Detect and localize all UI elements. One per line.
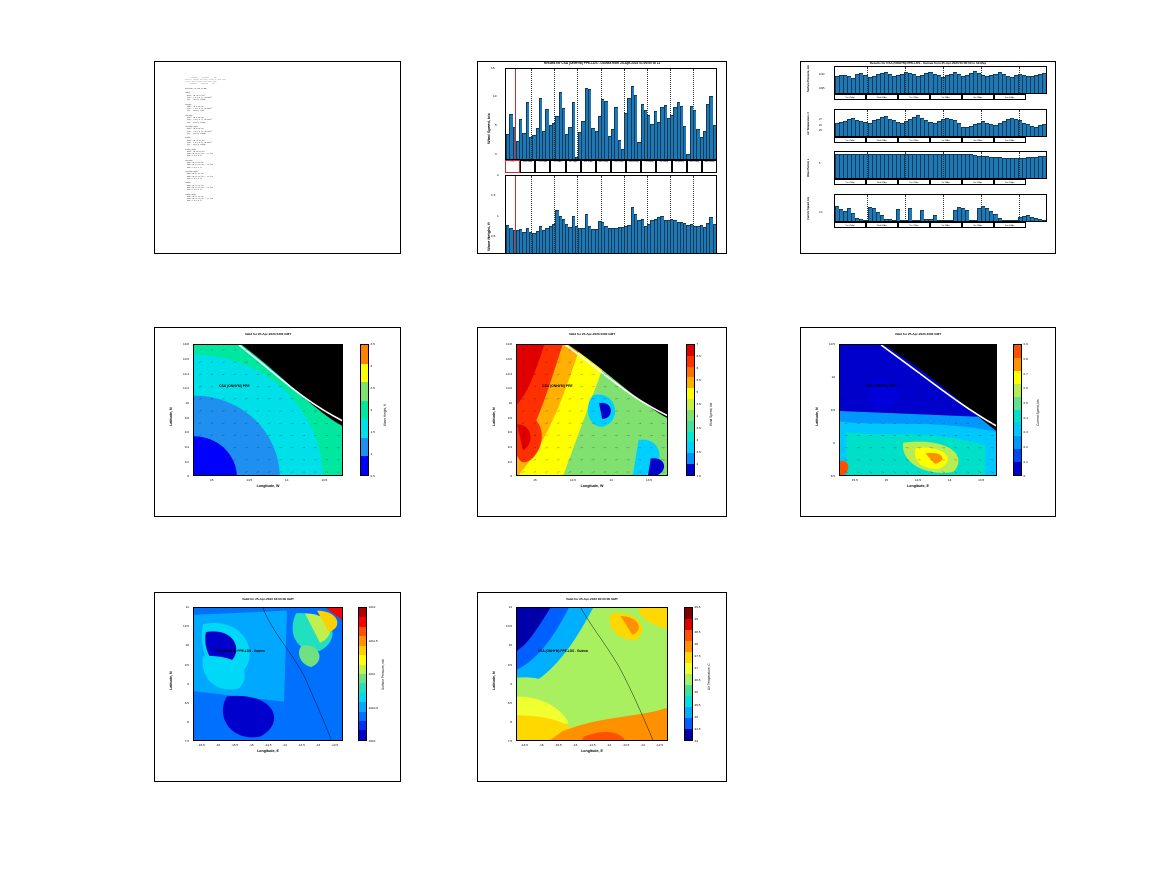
y-tick: 10.2	[506, 386, 512, 390]
colorbar-segment	[687, 410, 694, 421]
day-label: Thu 27Apr	[898, 94, 930, 100]
y-tick: 5	[819, 162, 820, 165]
y-tick: 10.8	[506, 342, 512, 346]
day-label: Tue 25Apr	[834, 222, 866, 228]
x-tick: 14.5	[567, 478, 579, 482]
colorbar-segment	[361, 456, 368, 475]
y-tick: 9.8	[508, 416, 512, 420]
day-label: Sat 29Apr	[962, 137, 994, 143]
bar	[1042, 156, 1046, 178]
y-tick: 10.5	[829, 342, 835, 346]
y-tick: 8	[187, 720, 189, 724]
colorbar-tick: 24	[695, 739, 698, 743]
map-field	[194, 608, 343, 741]
surface-pressure-subplot	[834, 66, 1047, 94]
wave-height-bars	[506, 176, 716, 254]
y-tick: 10.5	[183, 624, 189, 628]
y-tick: 10	[832, 375, 835, 379]
colorbar-segment	[359, 730, 366, 739]
air-temperature-map-plot-area	[516, 607, 668, 741]
day-label: Wed 26Apr	[866, 179, 898, 185]
x-tick: -16.5	[195, 743, 207, 747]
wind-speed-map-title: Valid for 25-Apr-2023 0300 GMT	[516, 332, 668, 336]
colorbar-tick: 0.5	[1024, 401, 1028, 405]
day-label: Tue 25Apr	[834, 179, 866, 185]
colorbar-segment	[361, 345, 368, 364]
colorbar-segment	[359, 721, 366, 730]
wind-wave-chart-title: Results for CSA (ONHYM) PPE-LDS - Guinea…	[478, 61, 726, 65]
colorbar-segment	[359, 627, 366, 636]
colorbar-tick: 7	[697, 342, 699, 346]
colorbar-tick: 6	[697, 366, 699, 370]
colorbar-tick: 0.8	[1024, 357, 1028, 361]
x-tick: -15.5	[229, 743, 241, 747]
colorbar-tick: 29	[695, 617, 698, 621]
y-tick: 9	[187, 682, 189, 686]
day-label: Thu 27Apr	[898, 137, 930, 143]
colorbar-tick: 1.5	[697, 474, 701, 478]
colorbar-tick: 3	[697, 438, 699, 442]
colorbar-segment	[685, 729, 692, 740]
air-temperature-map-colorbar	[684, 607, 693, 741]
wind-speed-subplot	[505, 68, 717, 160]
colorbar-tick: 1.5	[371, 430, 375, 434]
air-temperature-ylabel: Air Temperature, C	[807, 111, 810, 134]
colorbar-segment	[361, 382, 368, 401]
day-label: Sat 06May	[672, 160, 687, 173]
y-tick: 10	[186, 401, 189, 405]
bar	[713, 224, 716, 254]
x-tick: 15	[880, 478, 892, 482]
colorbar-tick: 0.2	[1024, 445, 1028, 449]
day-label: Wed 26Apr	[866, 94, 898, 100]
y-tick: 9	[833, 441, 835, 445]
colorbar-tick: 28.5	[695, 630, 701, 634]
colorbar-tick: 3	[371, 364, 373, 368]
now-marker-label: Now	[505, 160, 520, 173]
surface-pressure-map-colorbar-label: Surface Pressure, mb	[381, 659, 385, 690]
colorbar-segment	[685, 652, 692, 663]
wave-height-map-colorbar-label: Wave Height, ft	[383, 404, 387, 426]
colorbar-tick: 0.6	[1024, 386, 1028, 390]
y-tick: 9.5	[185, 663, 189, 667]
colorbar-segment	[359, 608, 366, 617]
wind-speed-ylabel: Wind Speed, kts	[486, 113, 491, 144]
day-label: Mon 08May	[702, 160, 717, 173]
y-tick: 10.4	[183, 372, 189, 376]
y-tick: 10.4	[506, 372, 512, 376]
wave-height-map-colorbar	[360, 344, 369, 476]
colorbar-segment	[359, 674, 366, 683]
met-ocean-timeseries-panel: Results for CSA (ONHYM) PPE-LDS - Guinea…	[800, 61, 1056, 254]
day-label: Wed 26Apr	[866, 222, 898, 228]
wave-period-subplot	[834, 151, 1047, 179]
colorbar-segment	[685, 685, 692, 696]
y-tick: 9.5	[831, 408, 835, 412]
day-label: Sat 29Apr	[962, 222, 994, 228]
colorbar-tick: 0	[1024, 474, 1026, 478]
day-label: Sat 29Apr	[962, 179, 994, 185]
colorbar-tick: 1011.5	[369, 639, 378, 643]
day-label: Wed 26Apr	[520, 160, 535, 173]
colorbar-segment	[1014, 371, 1021, 384]
colorbar-segment	[687, 367, 694, 378]
x-tick: 15	[206, 478, 218, 482]
current-speed-map-title: Valid for 25-Apr-2023 2300 GMT	[839, 332, 997, 336]
colorbar-segment	[1014, 397, 1021, 410]
forecast-text-body: ######## ######## ### #### ## ###### ###…	[185, 78, 392, 248]
y-tick: 9	[510, 682, 512, 686]
colorbar-tick: 4.5	[697, 402, 701, 406]
day-label: Thu 27Apr	[898, 179, 930, 185]
met-ocean-chart-title: Results for CSA (ONHYM) PPE-LDS - Guinea…	[801, 61, 1055, 65]
x-tick: -15.5	[552, 743, 564, 747]
y-tick: 11	[509, 605, 512, 609]
day-label: Fri 28Apr	[930, 179, 962, 185]
met-ocean-subplot-stack: Surface Pressure, mb10051010Tue 25AprWed…	[801, 66, 1055, 236]
wave-height-map-title: Valid for 25-Apr-2023 0300 GMT	[193, 332, 343, 336]
y-tick: 0.2	[819, 211, 822, 214]
colorbar-segment	[361, 438, 368, 457]
colorbar-tick: 1	[371, 452, 373, 456]
text-forecast-panel: ######## ######## ### #### ## ###### ###…	[154, 61, 401, 254]
current-speed-map-colorbar-label: Current Speed, kts	[1036, 399, 1040, 426]
colorbar-segment	[685, 619, 692, 630]
colorbar-segment	[359, 636, 366, 645]
wind-speed-map-plot-area	[516, 344, 668, 476]
x-tick: -16	[535, 743, 547, 747]
colorbar-segment	[685, 641, 692, 652]
y-tick: 8.5	[831, 474, 835, 478]
wave-height-map-panel: Valid for 25-Apr-2023 0300 GMT10.810.610…	[154, 327, 401, 517]
colorbar-tick: 25.5	[695, 703, 701, 707]
y-tick: 10.6	[183, 357, 189, 361]
bar	[1042, 73, 1046, 93]
colorbar-segment	[687, 388, 694, 399]
colorbar-tick: 4	[697, 414, 699, 418]
current-speed-map-colorbar	[1013, 344, 1022, 476]
colorbar-tick: 1012	[369, 605, 376, 609]
colorbar-segment	[359, 665, 366, 674]
y-tick: 9.4	[508, 445, 512, 449]
wind-speed-map-ylabel: Latitude, N	[492, 407, 496, 426]
colorbar-segment	[685, 696, 692, 707]
y-tick: 11	[186, 605, 189, 609]
wave-height-map-plot-area	[193, 344, 343, 476]
wind-speed-bars	[506, 69, 716, 159]
colorbar-segment	[359, 646, 366, 655]
current-speed-map-ylabel: Latitude, N	[815, 407, 819, 426]
day-label: Thu 27Apr	[898, 222, 930, 228]
y-tick: 9.6	[185, 430, 189, 434]
colorbar-segment	[687, 464, 694, 475]
air-temperature-map-site-label: CSA (ONHYM) PPE-LDS - Guinea	[538, 649, 588, 653]
wave-height-map-site-label: CSA (ONHYM) PPE	[219, 384, 250, 388]
wave-period-ylabel: Wave Period, s	[807, 159, 810, 177]
colorbar-segment	[687, 356, 694, 367]
current-speed-map-xlabel: Longitude, E	[839, 484, 997, 488]
x-tick: -16.5	[518, 743, 530, 747]
colorbar-segment	[1014, 384, 1021, 397]
colorbar-tick: 24.5	[695, 727, 701, 731]
colorbar-tick: 6.5	[697, 354, 701, 358]
colorbar-segment	[687, 345, 694, 356]
surface-pressure-ylabel: Surface Pressure, mb	[807, 65, 810, 92]
colorbar-tick: 0.1	[1024, 460, 1028, 464]
y-tick: 9.5	[508, 663, 512, 667]
colorbar-segment	[1014, 345, 1021, 358]
wind-speed-map-xlabel: Longitude, W	[516, 484, 668, 488]
x-tick: -13	[312, 743, 324, 747]
day-label: Fri 28Apr	[930, 94, 962, 100]
colorbar-tick: 1010	[369, 739, 376, 743]
wind-speed-map-site-label: CSA (ONHYM) PPE	[542, 384, 573, 388]
colorbar-tick: 0.9	[1024, 342, 1028, 346]
y-tick: 26	[819, 124, 822, 127]
y-tick: 10	[186, 643, 189, 647]
y-tick: 8.5	[185, 701, 189, 705]
colorbar-segment	[687, 432, 694, 443]
current-speed-subplot	[834, 194, 1047, 222]
colorbar-segment	[687, 377, 694, 388]
bar	[1042, 220, 1046, 221]
x-tick: -12.5	[329, 743, 341, 747]
day-label: Fri 28Apr	[930, 222, 962, 228]
surface-pressure-map-colorbar	[358, 607, 367, 741]
y-tick: 27	[819, 118, 822, 121]
colorbar-segment	[1014, 436, 1021, 449]
x-tick: -14	[279, 743, 291, 747]
colorbar-tick: 5	[697, 390, 699, 394]
colorbar-segment	[1014, 410, 1021, 423]
y-tick: 7.5	[185, 739, 189, 743]
colorbar-tick: 2.5	[371, 386, 375, 390]
current-speed-map-plot-area	[839, 344, 997, 476]
colorbar-tick: 0.3	[1024, 430, 1028, 434]
surface-pressure-map-site-label: CSA (ONHYM) PPE-LDS - Guinea	[215, 649, 265, 653]
day-label: Tue 25Apr	[834, 94, 866, 100]
surface-pressure-map-panel: Valid for 25-Apr-2023 03:00:00 GMT1110.5…	[154, 592, 401, 782]
bar	[713, 125, 716, 159]
colorbar-tick: 1010.5	[369, 706, 378, 710]
colorbar-segment	[687, 442, 694, 453]
colorbar-segment	[685, 663, 692, 674]
y-tick: 1005	[819, 87, 825, 90]
x-tick: -16	[212, 743, 224, 747]
colorbar-tick: 2.5	[697, 450, 701, 454]
colorbar-segment	[687, 421, 694, 432]
colorbar-segment	[685, 674, 692, 685]
colorbar-tick: 26.5	[695, 678, 701, 682]
day-label: Sat 29Apr	[566, 160, 581, 173]
bar	[1042, 124, 1046, 136]
air-temperature-map-xlabel: Longitude, E	[516, 749, 668, 753]
y-tick: 1010	[819, 73, 825, 76]
x-tick: -15	[569, 743, 581, 747]
map-field	[517, 345, 668, 476]
x-tick: -14.5	[262, 743, 274, 747]
day-label: Sun 30Apr	[994, 137, 1026, 143]
colorbar-segment	[359, 712, 366, 721]
wind-wave-timeseries-panel: Results for CSA (ONHYM) PPE-LDS - Guinea…	[477, 61, 727, 254]
day-label-row: Tue 25AprWed 26AprThu 27AprFri 28AprSat …	[834, 222, 1047, 228]
day-label: Mon 01May	[596, 160, 611, 173]
colorbar-segment	[685, 707, 692, 718]
y-tick: 10.6	[506, 357, 512, 361]
x-tick: 14.5	[912, 478, 924, 482]
now-marker-line	[515, 69, 516, 159]
wave-height-map-xlabel: Longitude, W	[193, 484, 343, 488]
air-temperature-map-title: Valid for 25-Apr-2023 00:00:00 GMT	[516, 597, 668, 601]
day-label: Sun 30Apr	[994, 94, 1026, 100]
day-label: Sun 30Apr	[581, 160, 596, 173]
colorbar-segment	[685, 608, 692, 619]
map-field	[840, 345, 997, 476]
colorbar-tick: 0.4	[1024, 416, 1028, 420]
colorbar-segment	[1014, 358, 1021, 371]
y-tick: 7.5	[508, 739, 512, 743]
y-tick: 9.2	[508, 460, 512, 464]
day-label: Sun 30Apr	[994, 179, 1026, 185]
y-tick: 10	[509, 401, 512, 405]
y-tick: 8	[510, 720, 512, 724]
colorbar-segment	[361, 364, 368, 383]
day-label: Tue 25Apr	[834, 137, 866, 143]
colorbar-tick: 29.5	[695, 605, 701, 609]
colorbar-tick: 5.5	[697, 378, 701, 382]
colorbar-segment	[359, 693, 366, 702]
colorbar-tick: 0.7	[1024, 372, 1028, 376]
x-tick: 14.5	[243, 478, 255, 482]
colorbar-segment	[685, 630, 692, 641]
wave-height-subplot	[505, 175, 717, 254]
y-tick: 8.5	[508, 701, 512, 705]
y-tick: 9	[187, 474, 189, 478]
day-label-row: Tue 25AprWed 26AprThu 27AprFri 28AprSat …	[834, 137, 1047, 143]
day-label: Fri 28Apr	[930, 137, 962, 143]
surface-pressure-map-title: Valid for 25-Apr-2023 03:00:00 GMT	[193, 597, 343, 601]
colorbar-tick: 3.5	[371, 342, 375, 346]
colorbar-segment	[359, 617, 366, 626]
current-speed-map-site-label: CSA (ONHYM) PPE	[865, 384, 896, 388]
x-tick: 14	[605, 478, 617, 482]
colorbar-segment	[687, 453, 694, 464]
colorbar-segment	[1014, 462, 1021, 475]
surface-pressure-map-xlabel: Longitude, E	[193, 749, 343, 753]
day-label: Tue 02May	[611, 160, 626, 173]
y-tick: 10	[509, 643, 512, 647]
day-label: Fri 28Apr	[550, 160, 565, 173]
surface-pressure-map-ylabel: Latitude, N	[169, 671, 173, 690]
y-tick: 9.2	[185, 460, 189, 464]
y-tick: 10.8	[183, 342, 189, 346]
wave-height-map-ylabel: Latitude, N	[169, 407, 173, 426]
day-label: Wed 26Apr	[866, 137, 898, 143]
colorbar-segment	[1014, 449, 1021, 462]
x-tick: 15	[529, 478, 541, 482]
colorbar-segment	[361, 401, 368, 420]
x-tick: -12.5	[654, 743, 666, 747]
x-tick: -13.5	[295, 743, 307, 747]
colorbar-tick: 3.5	[697, 426, 701, 430]
colorbar-segment	[1014, 423, 1021, 436]
colorbar-tick: 1011	[369, 672, 376, 676]
x-tick: 13.5	[643, 478, 655, 482]
x-tick: -15	[245, 743, 257, 747]
colorbar-segment	[361, 419, 368, 438]
wind-speed-map-panel: Valid for 25-Apr-2023 0300 GMT10.810.610…	[477, 327, 727, 517]
colorbar-segment	[359, 683, 366, 692]
day-label: Sun 07May	[687, 160, 702, 173]
day-label-row: Tue 25AprWed 26AprThu 27AprFri 28AprSat …	[505, 160, 717, 173]
y-tick: 10.2	[183, 386, 189, 390]
colorbar-segment	[359, 702, 366, 711]
colorbar-segment	[687, 399, 694, 410]
x-tick: 15.5	[849, 478, 861, 482]
colorbar-tick: 26	[695, 690, 698, 694]
x-tick: -13.5	[620, 743, 632, 747]
y-tick: 9	[510, 474, 512, 478]
y-tick: 10.5	[506, 624, 512, 628]
day-label: Thu 27Apr	[535, 160, 550, 173]
day-label: Wed 03May	[626, 160, 641, 173]
x-tick: -14.5	[586, 743, 598, 747]
current-speed-map-panel: Valid for 25-Apr-2023 2300 GMT10.5109.59…	[800, 327, 1056, 517]
colorbar-segment	[359, 655, 366, 664]
current-speed-ylabel: Current Speed, kts	[807, 196, 810, 219]
day-label-row: Tue 25AprWed 26AprThu 27AprFri 28AprSat …	[834, 179, 1047, 185]
day-label: Sun 30Apr	[994, 222, 1026, 228]
colorbar-tick: 28	[695, 642, 698, 646]
wind-speed-map-colorbar	[686, 344, 695, 476]
x-tick: 14	[281, 478, 293, 482]
colorbar-tick: 2	[697, 462, 699, 466]
y-tick: 9.8	[185, 416, 189, 420]
air-temperature-map-panel: Valid for 25-Apr-2023 00:00:00 GMT1110.5…	[477, 592, 727, 782]
x-tick: 13.5	[318, 478, 330, 482]
map-field	[194, 345, 343, 476]
x-tick: -13	[637, 743, 649, 747]
colorbar-segment	[685, 718, 692, 729]
colorbar-tick: 27	[695, 666, 698, 670]
y-tick: 9.6	[508, 430, 512, 434]
wind-speed-map-colorbar-label: Wind Speed, kts	[709, 403, 713, 426]
day-label: Fri 05May	[656, 160, 671, 173]
colorbar-tick: 2	[371, 408, 373, 412]
y-tick: 9.4	[185, 445, 189, 449]
x-tick: 13.5	[975, 478, 987, 482]
day-label: Thu 04May	[641, 160, 656, 173]
air-temperature-map-ylabel: Latitude, N	[492, 671, 496, 690]
air-temperature-map-colorbar-label: Air Temperature, C	[707, 663, 711, 690]
surface-pressure-map-plot-area	[193, 607, 343, 741]
bar	[572, 102, 575, 159]
x-tick: -14	[603, 743, 615, 747]
x-tick: 14	[944, 478, 956, 482]
map-field	[517, 608, 668, 741]
day-label-row: Tue 25AprWed 26AprThu 27AprFri 28AprSat …	[834, 94, 1047, 100]
colorbar-tick: 27.5	[695, 654, 701, 658]
day-label: Sat 29Apr	[962, 94, 994, 100]
y-tick: 25	[819, 129, 822, 132]
colorbar-tick: 0.5	[371, 474, 375, 478]
air-temperature-subplot	[834, 109, 1047, 137]
colorbar-tick: 25	[695, 715, 698, 719]
